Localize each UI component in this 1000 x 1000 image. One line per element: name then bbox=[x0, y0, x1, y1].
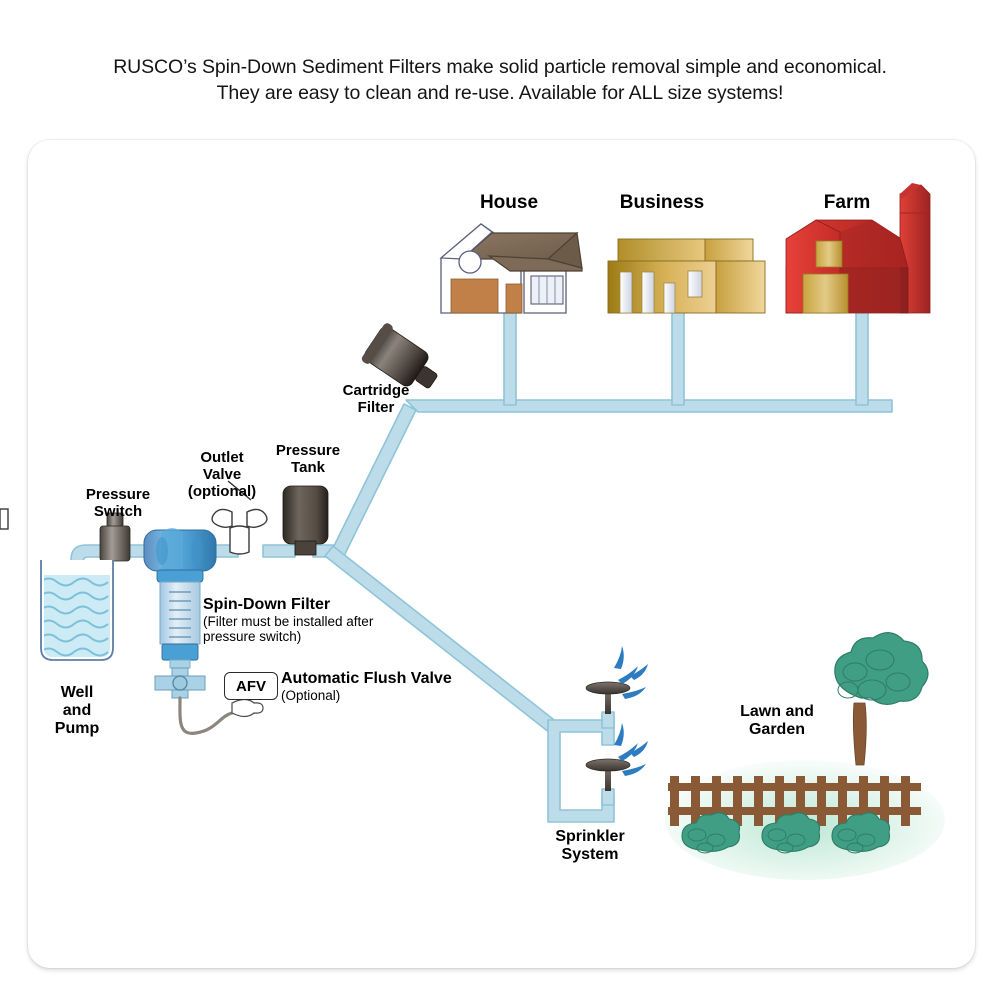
label-spin-down-filter: Spin-Down Filter bbox=[203, 596, 463, 614]
page-root: RUSCO’s Spin-Down Sediment Filters make … bbox=[0, 0, 1000, 1000]
label-well-and-pump: Well and Pump bbox=[27, 684, 127, 738]
diagram-card bbox=[28, 140, 975, 968]
label-pressure-tank: Pressure Tank bbox=[258, 443, 358, 477]
headline-line-2: They are easy to clean and re-use. Avail… bbox=[0, 80, 1000, 106]
label-house: House bbox=[449, 192, 569, 213]
afv-badge: AFV bbox=[224, 672, 278, 700]
label-pressure-switch: Pressure Switch bbox=[63, 487, 173, 521]
label-farm: Farm bbox=[797, 192, 897, 213]
label-cartridge-filter: Cartridge Filter bbox=[316, 383, 436, 417]
label-automatic-flush-valve-note: (Optional) bbox=[281, 688, 481, 703]
headline-line-1: RUSCO’s Spin-Down Sediment Filters make … bbox=[0, 54, 1000, 80]
label-spin-down-note: (Filter must be installed after pressure… bbox=[203, 614, 493, 644]
page-headline: RUSCO’s Spin-Down Sediment Filters make … bbox=[0, 54, 1000, 106]
label-lawn-and-garden: Lawn and Garden bbox=[712, 703, 842, 739]
label-business: Business bbox=[602, 192, 722, 213]
label-automatic-flush-valve: Automatic Flush Valve bbox=[281, 670, 541, 688]
label-sprinkler-system: Sprinkler System bbox=[525, 828, 655, 864]
